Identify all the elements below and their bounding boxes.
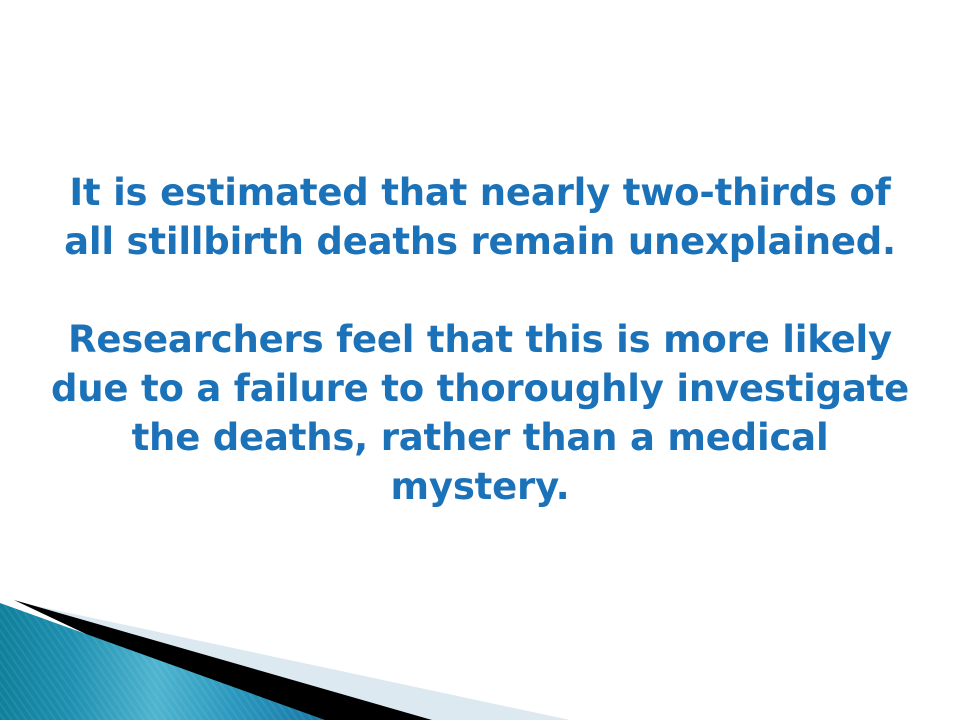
- slide-canvas: It is estimated that nearly two-thirds o…: [0, 0, 960, 720]
- paragraph-2: Researchers feel that this is more likel…: [48, 315, 912, 511]
- corner-teal-triangle: [0, 603, 325, 720]
- corner-pale-stripe: [18, 602, 570, 720]
- paragraph-1: It is estimated that nearly two-thirds o…: [48, 168, 912, 266]
- corner-dark-stripe: [14, 600, 432, 720]
- paragraph-spacer: [48, 266, 912, 315]
- slide-body-text: It is estimated that nearly two-thirds o…: [48, 168, 912, 511]
- corner-teal-texture: [0, 603, 325, 720]
- bottom-left-corner-graphic: [0, 590, 620, 720]
